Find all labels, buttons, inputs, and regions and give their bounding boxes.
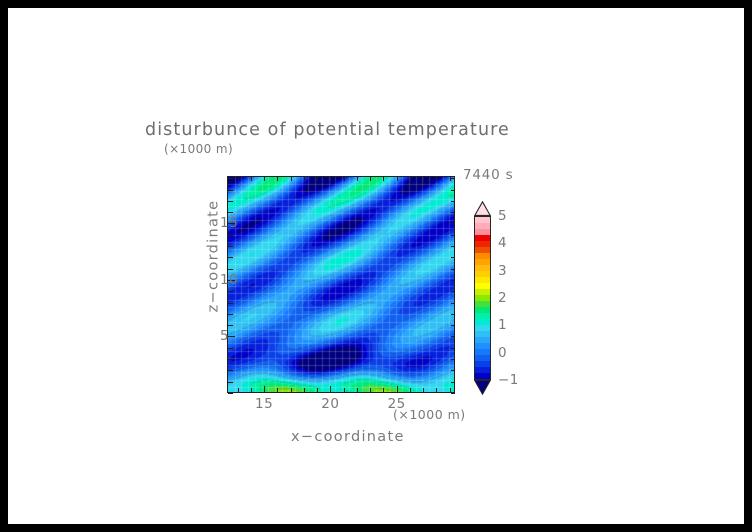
- y-axis-tick: [228, 235, 233, 236]
- colorbar-tick-label: 0: [498, 345, 507, 361]
- y-axis-tick: [228, 190, 233, 191]
- x-axis-tick: [291, 388, 292, 393]
- y-axis-tick-right: [451, 314, 455, 315]
- x-axis-tick-top: [277, 177, 278, 181]
- y-axis-tick: [228, 382, 233, 383]
- x-axis-tick: [277, 388, 278, 393]
- y-axis-tick-right: [451, 370, 455, 371]
- y-axis-tick-right: [451, 212, 455, 213]
- y-axis-tick: [228, 314, 233, 315]
- temperature-field-heatmap: [228, 177, 455, 393]
- y-axis-tick: [228, 269, 233, 270]
- colorbar-tick-label: 2: [498, 290, 507, 306]
- colorbar-band: [475, 373, 490, 379]
- x-axis-tick: [344, 388, 345, 393]
- x-axis-tick: [370, 388, 371, 393]
- y-axis-tick: [228, 257, 233, 258]
- x-axis-title: x−coordinate: [291, 429, 405, 445]
- y-axis-tick-right: [451, 303, 455, 304]
- y-axis-tick-right: [451, 336, 455, 337]
- y-axis-tick: [228, 201, 233, 202]
- y-axis-title: z−coordinate: [205, 200, 221, 313]
- y-axis-tick-right: [451, 359, 455, 360]
- x-axis-tick-top: [291, 177, 292, 181]
- y-axis-tick: [228, 303, 233, 304]
- y-axis-tick-right: [451, 269, 455, 270]
- colorbar-gradient: [474, 216, 491, 380]
- y-axis-tick-right: [451, 190, 455, 191]
- y-axis-tick: [228, 370, 233, 371]
- time-annotation: 7440 s: [463, 167, 513, 183]
- colorbar-tick-label: 3: [498, 263, 507, 279]
- x-axis-tick-label: 20: [321, 396, 339, 412]
- x-axis-tick: [251, 388, 252, 393]
- y-axis-tick: [228, 246, 233, 247]
- x-axis-tick: [383, 388, 384, 393]
- y-axis-tick-label: 5: [220, 328, 229, 344]
- x-axis-tick-top: [317, 177, 318, 181]
- x-axis-tick: [436, 388, 437, 393]
- colorbar-tick-label: 1: [498, 317, 507, 333]
- y-axis-tick-right: [451, 348, 455, 349]
- x-axis-tick-top: [330, 177, 331, 181]
- y-axis-tick: [228, 212, 233, 213]
- x-axis-tick-top: [370, 177, 371, 181]
- y-axis-tick-right: [451, 291, 455, 292]
- figure-canvas: disturbunce of potential temperature (×1…: [8, 8, 744, 524]
- y-axis-tick-right: [451, 178, 455, 179]
- y-axis-tick-right: [451, 201, 455, 202]
- x-axis-unit-label: (×1000 m): [393, 407, 466, 422]
- x-axis-tick-top: [251, 177, 252, 181]
- x-axis-tick: [397, 386, 398, 393]
- x-axis-tick: [304, 388, 305, 393]
- x-axis-tick-top: [436, 177, 437, 181]
- colorbar-tick-label: 5: [498, 208, 507, 224]
- x-axis-tick-top: [383, 177, 384, 181]
- x-axis-tick: [317, 388, 318, 393]
- y-axis-tick-right: [451, 280, 455, 281]
- colorbar-tick-label: 4: [498, 235, 507, 251]
- y-axis-tick-label: 15: [220, 215, 238, 231]
- x-axis-tick: [330, 386, 331, 393]
- x-axis-tick-top: [304, 177, 305, 181]
- y-axis-tick: [228, 393, 233, 394]
- y-axis-tick-label: 10: [220, 272, 238, 288]
- y-axis-unit-label: (×1000 m): [164, 142, 233, 156]
- y-axis-tick-right: [451, 393, 455, 394]
- x-axis-tick-top: [423, 177, 424, 181]
- y-axis-tick-right: [451, 382, 455, 383]
- colorbar[interactable]: 543210−1: [472, 201, 496, 395]
- x-axis-tick-top: [410, 177, 411, 181]
- x-axis-tick: [238, 388, 239, 393]
- x-axis-tick-label: 15: [255, 396, 273, 412]
- x-axis-tick: [410, 388, 411, 393]
- y-axis-tick-right: [451, 235, 455, 236]
- x-axis-tick-top: [344, 177, 345, 181]
- colorbar-cap-bottom-icon: [474, 380, 491, 395]
- y-axis-tick-right: [451, 325, 455, 326]
- y-axis-tick: [228, 291, 233, 292]
- y-axis-tick-right: [451, 257, 455, 258]
- contour-plot-area[interactable]: [227, 176, 455, 393]
- y-axis-tick: [228, 178, 233, 179]
- page-title: disturbunce of potential temperature: [145, 120, 510, 140]
- x-axis-tick-top: [397, 177, 398, 181]
- y-axis-tick: [228, 348, 233, 349]
- colorbar-tick-label: −1: [498, 372, 519, 388]
- y-axis-tick-right: [451, 246, 455, 247]
- y-axis-tick: [228, 325, 233, 326]
- x-axis-tick: [264, 386, 265, 393]
- x-axis-tick: [357, 388, 358, 393]
- x-axis-tick-top: [238, 177, 239, 181]
- x-axis-tick-top: [357, 177, 358, 181]
- y-axis-tick: [228, 359, 233, 360]
- colorbar-cap-top-icon: [474, 201, 491, 216]
- x-axis-tick: [423, 388, 424, 393]
- y-axis-tick-right: [451, 223, 455, 224]
- x-axis-tick-top: [264, 177, 265, 181]
